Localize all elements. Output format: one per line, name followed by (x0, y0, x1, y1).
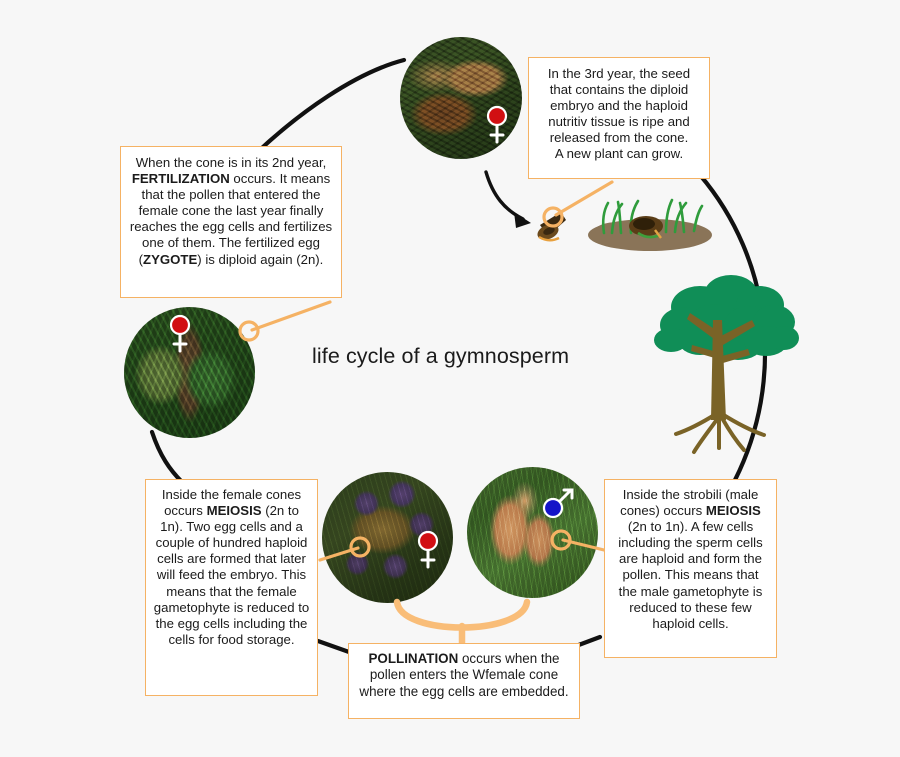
fertilization-box: When the cone is in its 2nd year, FERTIL… (120, 146, 342, 298)
seed-box-line-5: A new plant can grow. (536, 146, 702, 162)
female-symbol-icon-mature (488, 107, 506, 142)
life-cycle-diagram: life cycle of a gymnosperm In the 3rd ye… (0, 0, 900, 757)
fertilization-text: When the cone is in its 2nd year, FERTIL… (128, 155, 334, 268)
seed-box-line-1: that contains the diploid (536, 82, 702, 98)
female-symbol-icon-purple (419, 532, 437, 567)
seed-box-line-2: embryo and the haploid (536, 98, 702, 114)
seed-box-line-4: released from the cone. (536, 130, 702, 146)
female-meiosis-box: Inside the female cones occurs MEIOSIS (… (145, 479, 318, 696)
female-symbol-icon-green (171, 316, 189, 351)
male-symbol-icon (544, 490, 572, 517)
seed-box-line-3: nutritiv tissue is ripe and (536, 114, 702, 130)
pollination-text: POLLINATION occurs when the pollen enter… (356, 651, 572, 700)
page-title: life cycle of a gymnosperm (312, 344, 612, 369)
male-meiosis-text: Inside the strobili (male cones) occurs … (612, 487, 769, 632)
pollination-box: POLLINATION occurs when the pollen enter… (348, 643, 580, 719)
seed-ripening-box: In the 3rd year, the seed that contains … (528, 57, 710, 179)
male-meiosis-box: Inside the strobili (male cones) occurs … (604, 479, 777, 658)
female-meiosis-text: Inside the female cones occurs MEIOSIS (… (153, 487, 310, 648)
seed-box-line-0: In the 3rd year, the seed (536, 66, 702, 82)
